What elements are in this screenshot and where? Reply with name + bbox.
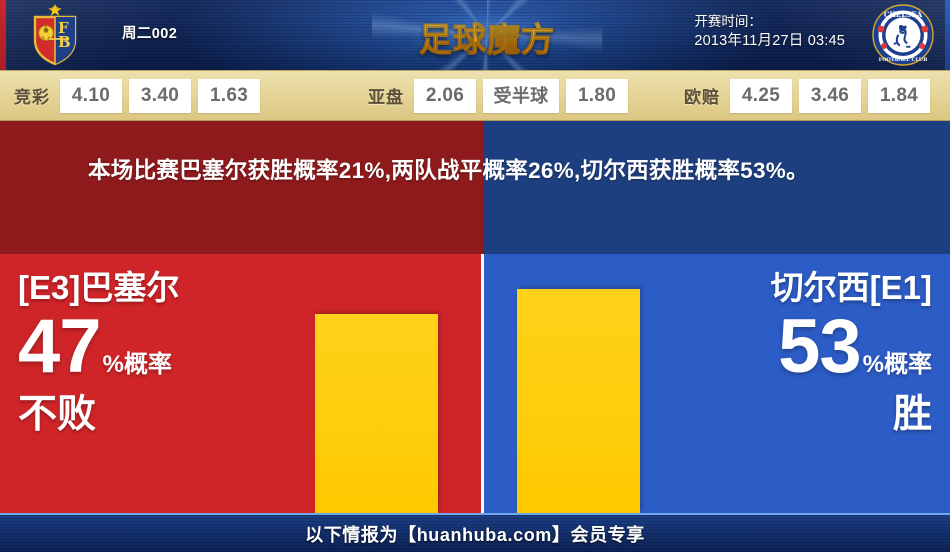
away-outcome-label: 胜 — [771, 389, 932, 441]
away-percent-row: 53 %概率 — [771, 309, 932, 385]
header-left-red-edge — [0, 0, 6, 70]
kickoff-value: 2013年11月27日 03:45 — [694, 31, 845, 52]
probability-chart: [E3]巴塞尔 47 %概率 不败 切尔西[E1] 53 %概率 胜 — [0, 254, 950, 513]
odds-group-label: 欧赔 — [684, 83, 720, 108]
odds-cell-away[interactable]: 1.80 — [566, 79, 628, 113]
summary-text: 本场比赛巴塞尔获胜概率21%,两队战平概率26%,切尔西获胜概率53%。 — [88, 151, 878, 190]
home-outcome-label: 不败 — [18, 389, 179, 441]
match-number: 周二002 — [122, 22, 177, 43]
odds-group-european: 欧赔 4.25 3.46 1.84 — [684, 79, 930, 113]
odds-cell-home[interactable]: 2.06 — [414, 79, 476, 113]
home-percent-row: 47 %概率 — [18, 309, 179, 385]
home-team-block: [E3]巴塞尔 47 %概率 不败 — [18, 266, 179, 441]
chelsea-crest-icon: CHELSEA FOOTBALL CLUB — [872, 4, 934, 66]
brand-logo: 足球魔方 — [392, 2, 582, 68]
header-right-blue-edge — [945, 0, 950, 70]
home-percent-unit: %概率 — [103, 353, 172, 377]
odds-cell-home[interactable]: 4.10 — [60, 79, 122, 113]
away-team-name: 切尔西[E1] — [771, 266, 932, 309]
odds-cell-draw[interactable]: 3.40 — [129, 79, 191, 113]
odds-bar: 竞彩 4.10 3.40 1.63 亚盘 2.06 受半球 1.80 欧赔 4.… — [0, 70, 950, 121]
odds-group-jingcai: 竞彩 4.10 3.40 1.63 — [14, 79, 260, 113]
odds-group-label: 竞彩 — [14, 83, 50, 108]
odds-group-asian: 亚盘 2.06 受半球 1.80 — [368, 79, 628, 113]
brand-logo-text: 足球魔方 — [392, 13, 582, 61]
kickoff-block: 开赛时间： 2013年11月27日 03:45 — [694, 12, 845, 52]
odds-cell-away[interactable]: 1.63 — [198, 79, 260, 113]
match-probability-infographic: F B 周二002 足球魔方 开赛时间： 2013年11月27日 03:45 C… — [0, 0, 950, 552]
away-percent-unit: %概率 — [863, 353, 932, 377]
away-percent-value: 53 — [778, 309, 861, 385]
odds-cell-draw[interactable]: 3.46 — [799, 79, 861, 113]
header-bar: F B 周二002 足球魔方 开赛时间： 2013年11月27日 03:45 C… — [0, 0, 950, 70]
away-probability-bar — [517, 289, 640, 513]
odds-cell-away[interactable]: 1.84 — [868, 79, 930, 113]
basel-crest-icon: F B — [22, 3, 88, 67]
footer-bar: 以下情报为【huanhuba.com】会员专享 — [0, 513, 950, 552]
odds-group-label: 亚盘 — [368, 83, 404, 108]
panel-divider — [481, 254, 484, 513]
summary-band: 本场比赛巴塞尔获胜概率21%,两队战平概率26%,切尔西获胜概率53%。 — [0, 121, 950, 254]
odds-cell-home[interactable]: 4.25 — [730, 79, 792, 113]
svg-text:FOOTBALL CLUB: FOOTBALL CLUB — [879, 57, 928, 63]
home-probability-bar — [315, 314, 438, 513]
footer-text: 以下情报为【huanhuba.com】会员专享 — [305, 521, 645, 547]
home-percent-value: 47 — [18, 309, 101, 385]
svg-text:B: B — [58, 33, 71, 51]
kickoff-label: 开赛时间： — [694, 12, 845, 31]
home-team-name: [E3]巴塞尔 — [18, 266, 179, 309]
svg-text:CHELSEA: CHELSEA — [884, 10, 923, 19]
away-team-block: 切尔西[E1] 53 %概率 胜 — [771, 266, 932, 441]
odds-cell-handicap[interactable]: 受半球 — [483, 79, 559, 113]
